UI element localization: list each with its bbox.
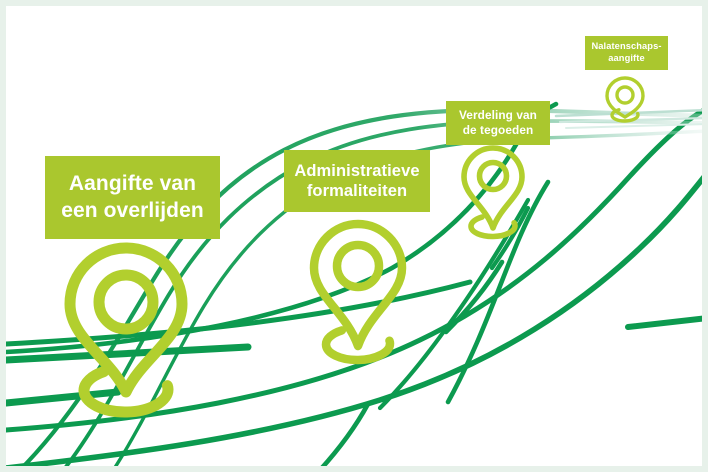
step-label-line: een overlijden <box>61 198 204 224</box>
road-horizon-3 <box>566 124 708 128</box>
pin-inner-circle-4 <box>617 87 633 103</box>
pin-inner-circle-1 <box>99 275 153 329</box>
step-label-line: Verdeling van <box>459 108 537 123</box>
step-label-nalatenschapsaangifte[interactable]: Nalatenschaps- aangifte <box>585 36 668 70</box>
illustration-canvas: Aangifte van een overlijden Administrati… <box>0 0 708 472</box>
map-pin-step-3 <box>464 148 522 237</box>
step-label-line: de tegoeden <box>463 123 534 138</box>
step-label-administratieve-formaliteiten[interactable]: Administratieve formaliteiten <box>284 150 430 212</box>
road-marker-near-2 <box>6 392 118 403</box>
pin-inner-circle-2 <box>337 245 379 287</box>
step-label-aangifte-van-een-overlijden[interactable]: Aangifte van een overlijden <box>45 156 220 239</box>
step-label-line: Administratieve <box>294 161 419 181</box>
road-curve-right-2 <box>380 200 528 408</box>
map-pin-step-2 <box>314 224 402 361</box>
step-label-line: Aangifte van <box>69 171 196 197</box>
step-label-line: Nalatenschaps- <box>591 41 661 53</box>
road-marker-near-3 <box>628 318 708 327</box>
step-label-line: aangifte <box>608 53 644 65</box>
step-label-verdeling-van-de-tegoeden[interactable]: Verdeling van de tegoeden <box>446 101 550 145</box>
step-label-line: formaliteiten <box>307 181 407 201</box>
